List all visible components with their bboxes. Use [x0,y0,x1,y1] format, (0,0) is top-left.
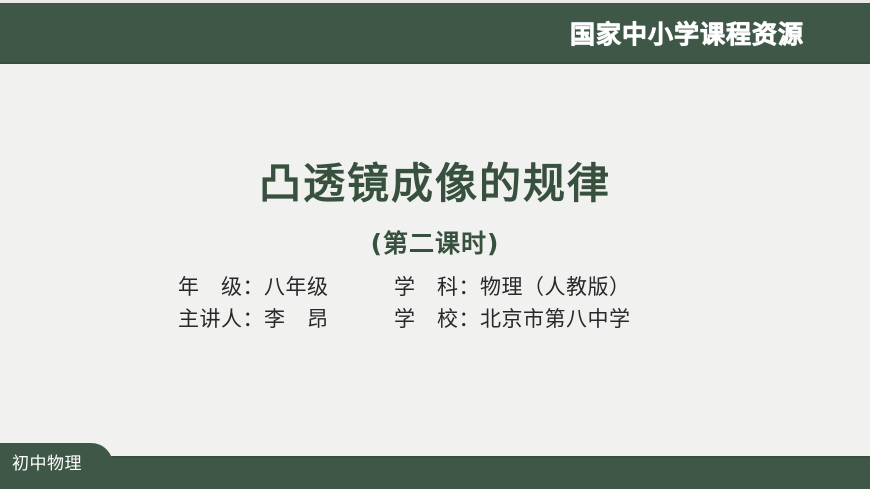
brand-title: 国家中小学课程资源 [570,20,804,50]
footer-bar [0,456,870,489]
header-bar: 国家中小学课程资源 [0,3,870,64]
info-subject: 学 科：物理（人教版） [394,271,631,303]
page-subtitle: (第二课时) [0,229,870,259]
info-school: 学 校：北京市第八中学 [394,303,631,335]
course-info-block: 年 级：八年级学 科：物理（人教版） 主讲人：李 昂学 校：北京市第八中学 [178,271,631,335]
info-line-teacher-school: 主讲人：李 昂学 校：北京市第八中学 [178,303,631,335]
info-teacher: 主讲人：李 昂 [178,303,394,335]
slide-content: 凸透镜成像的规律 (第二课时) 年 级：八年级学 科：物理（人教版） 主讲人：李… [0,64,870,456]
footer-subject-tab: 初中物理 [0,443,113,489]
info-grade: 年 级：八年级 [178,271,394,303]
info-line-grade-subject: 年 级：八年级学 科：物理（人教版） [178,271,631,303]
footer-tab-label: 初中物理 [12,453,82,475]
presentation-slide: 国家中小学课程资源 凸透镜成像的规律 (第二课时) 年 级：八年级学 科：物理（… [0,0,870,489]
page-title: 凸透镜成像的规律 [0,160,870,208]
